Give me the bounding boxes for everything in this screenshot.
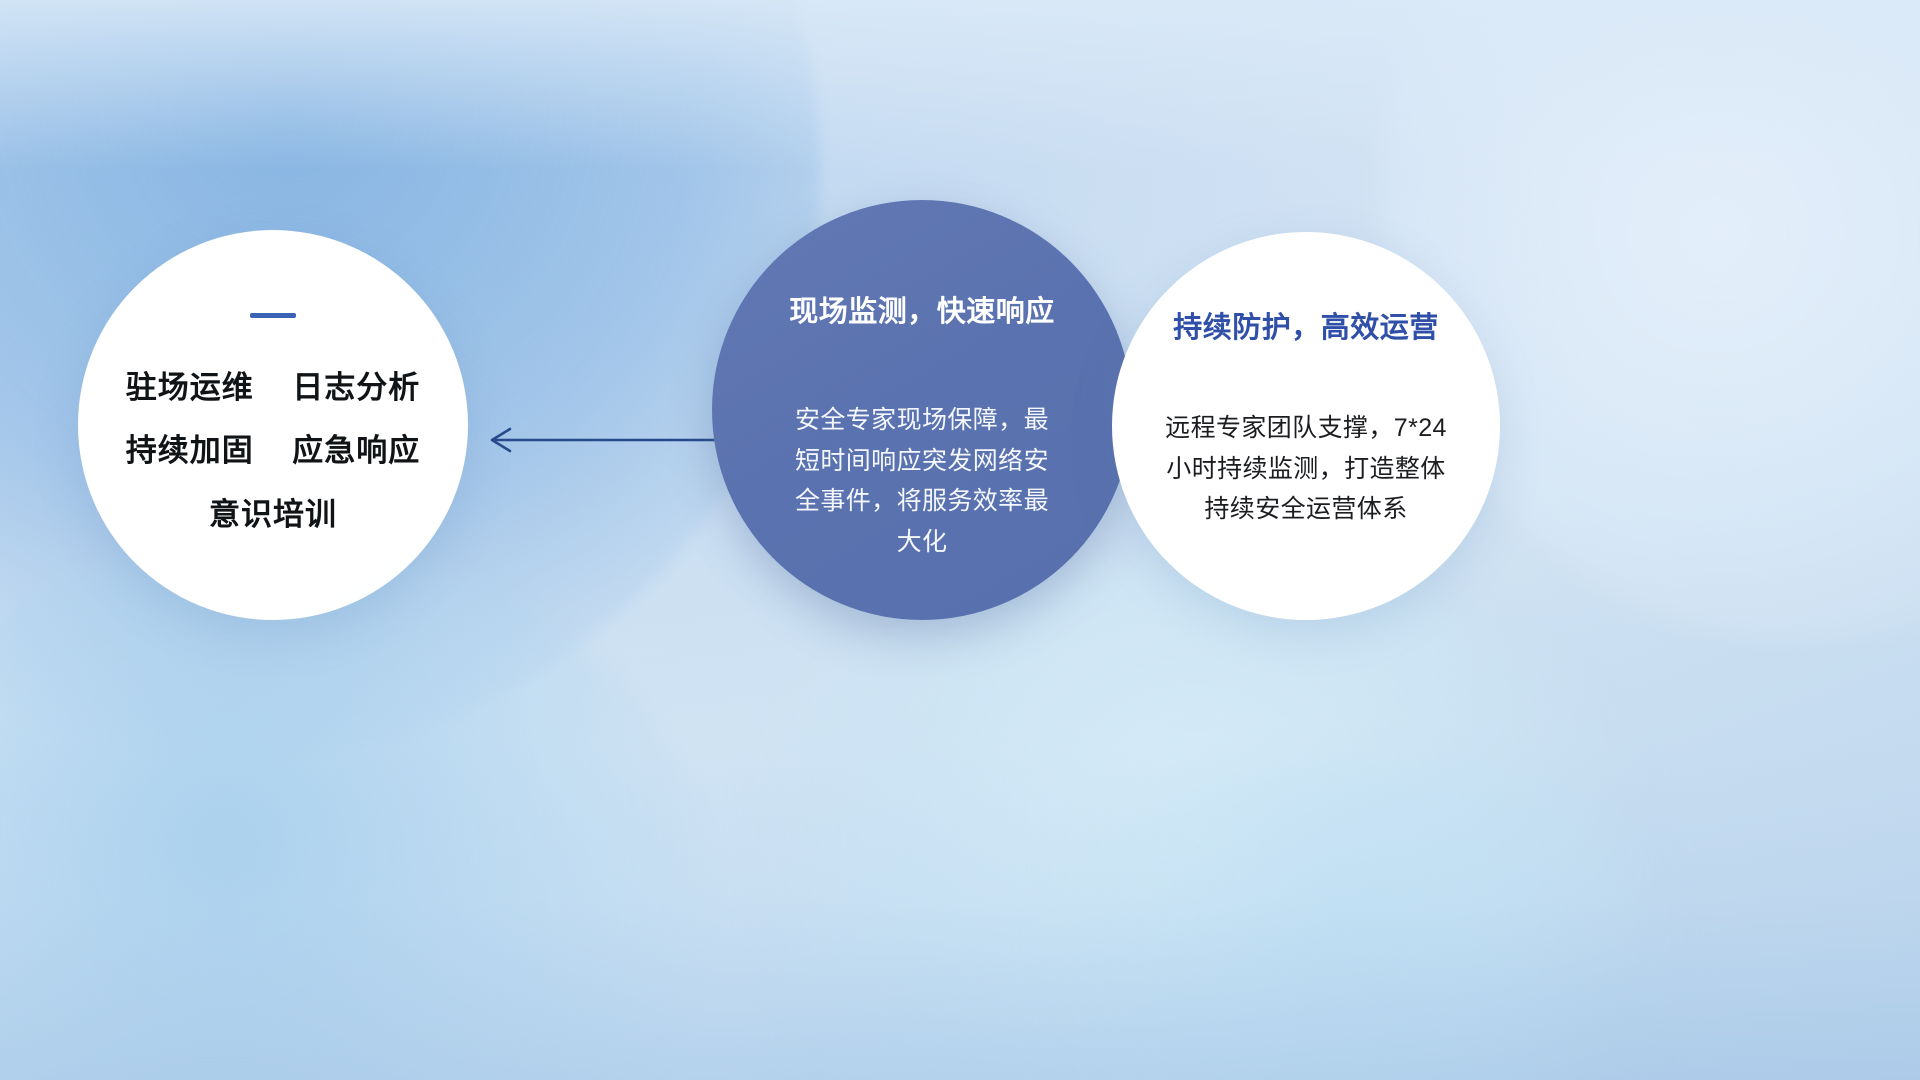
capability-circle-left-content: 驻场运维 日志分析 持续加固 应急响应 意识培训 (78, 230, 468, 620)
continuous-protection-description: 远程专家团队支撑，7*24小时持续监测，打造整体持续安全运营体系 (1156, 408, 1456, 530)
feature-circle-continuous-protection-content: 持续防护，高效运营 远程专家团队支撑，7*24小时持续监测，打造整体持续安全运营… (1112, 232, 1500, 620)
capability-circle-left[interactable]: 驻场运维 日志分析 持续加固 应急响应 意识培训 (78, 230, 468, 620)
background-haze-top (0, 0, 1920, 170)
capability-line-3: 意识培训 (209, 493, 337, 537)
capability-line-2: 持续加固 应急响应 (126, 429, 420, 473)
dash-accent-icon (250, 313, 296, 318)
background-haze-bottom (0, 750, 1920, 1080)
capability-line-1: 驻场运维 日志分析 (126, 366, 420, 410)
onsite-monitoring-description: 安全专家现场保障，最短时间响应突发网络安全事件，将服务效率最大化 (788, 400, 1056, 562)
feature-circle-onsite-monitoring-content: 现场监测，快速响应 安全专家现场保障，最短时间响应突发网络安全事件，将服务效率最… (712, 200, 1132, 620)
feature-circle-continuous-protection[interactable]: 持续防护，高效运营 远程专家团队支撑，7*24小时持续监测，打造整体持续安全运营… (1112, 232, 1500, 620)
continuous-protection-title: 持续防护，高效运营 (1173, 304, 1439, 346)
left-pointing-arrow-icon (480, 415, 720, 465)
feature-circle-onsite-monitoring[interactable]: 现场监测，快速响应 安全专家现场保障，最短时间响应突发网络安全事件，将服务效率最… (712, 200, 1132, 620)
onsite-monitoring-title: 现场监测，快速响应 (789, 288, 1055, 330)
